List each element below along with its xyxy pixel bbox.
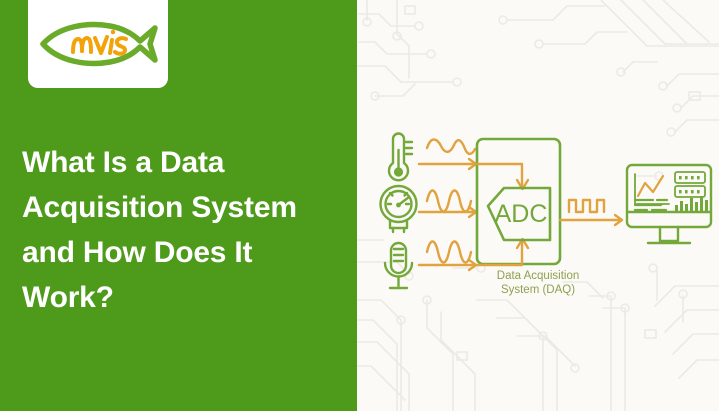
page-canvas: What Is a Data Acquisition System and Ho… [0,0,719,411]
adc-label: ADC [495,200,548,228]
signal-arrow-1 [419,159,476,169]
analog-signal-wave-2 [427,191,471,212]
monitor-text-lines [635,200,667,210]
monitor-bar-chart [675,196,708,211]
monitor-line-chart [638,176,663,196]
analog-signal-wave-3 [427,242,471,263]
digital-pulse-train-signal [569,200,604,212]
logo-card[interactable] [28,0,168,88]
nvis-fish-logo-icon [36,16,160,72]
output-arrow [560,215,622,225]
monitor-data-panels [679,176,700,193]
thermometer-sensor-icon [389,134,412,181]
daq-caption-line-2: System (DAQ) [357,283,719,297]
daq-caption-line-1: Data Acquisition [357,269,719,283]
pressure-gauge-sensor-icon [381,186,417,232]
green-title-panel: What Is a Data Acquisition System and Ho… [0,0,357,411]
analog-signal-wave-1 [427,140,475,154]
illustration-panel: ADC [357,0,719,411]
daq-block-diagram: ADC [357,0,719,411]
page-title: What Is a Data Acquisition System and Ho… [22,140,342,320]
daq-caption: Data Acquisition System (DAQ) [357,269,719,297]
